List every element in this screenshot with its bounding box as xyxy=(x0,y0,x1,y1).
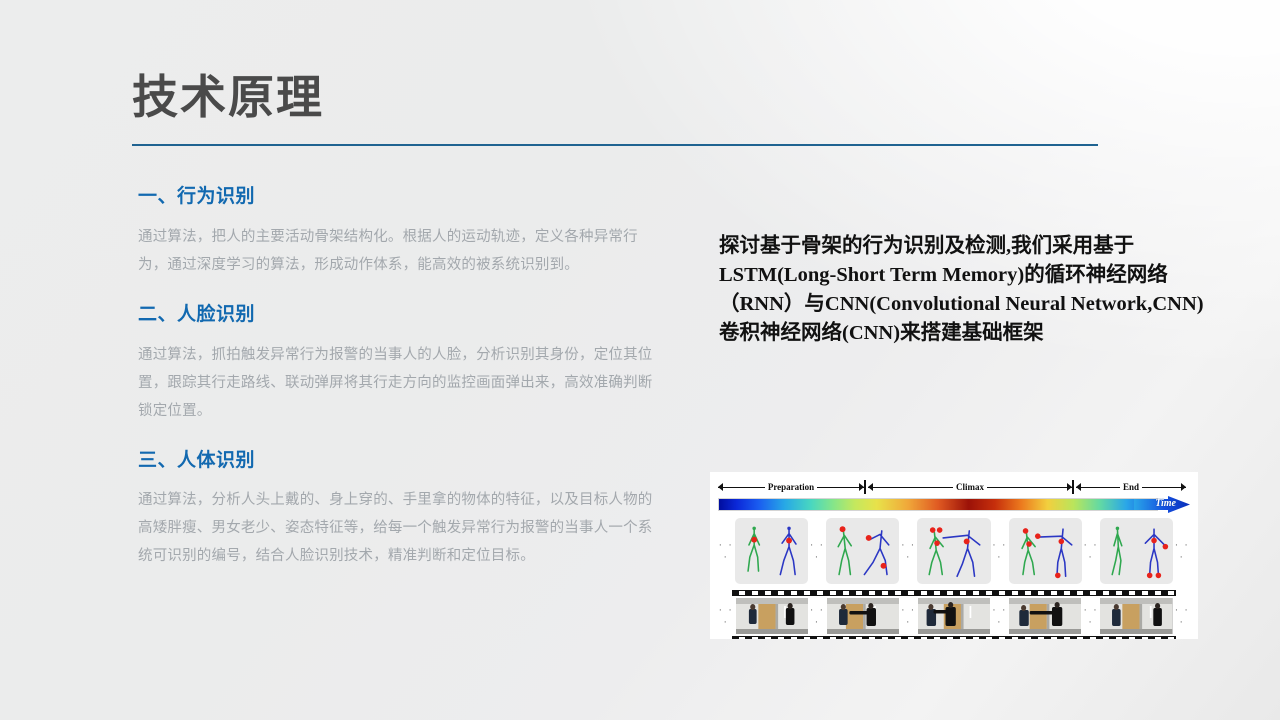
arrow-right-icon xyxy=(1181,483,1186,491)
section-body-2: 通过算法，抓拍触发异常行为报警的当事人的人脸，分析识别其身份，定位其位置，跟踪其… xyxy=(138,341,654,425)
page-title: 技术原理 xyxy=(132,72,324,123)
skeleton-pose-4 xyxy=(1009,518,1082,584)
film-ellipsis-left: · · · xyxy=(718,604,734,628)
film-perforations-top xyxy=(732,590,1176,596)
skeleton-pose-3 xyxy=(917,518,990,584)
video-frame-1 xyxy=(736,598,808,634)
skeleton-frame-1 xyxy=(735,518,808,584)
arrow-left-icon xyxy=(718,483,723,491)
skeleton-frame-2 xyxy=(826,518,899,584)
section-face-recognition: 二、人脸识别 通过算法，抓拍触发异常行为报警的当事人的人脸，分析识别其身份，定位… xyxy=(138,304,654,425)
video-frame-4 xyxy=(1009,598,1081,634)
phase-segment-climax: Climax xyxy=(868,479,1072,495)
skeleton-pose-1 xyxy=(735,518,808,584)
figure-inner: Preparation Climax End xyxy=(718,479,1190,631)
film-ellipsis-4: · · · xyxy=(1083,604,1099,628)
title-block: 技术原理 xyxy=(132,72,324,123)
section-behavior-recognition: 一、行为识别 通过算法，把人的主要活动骨架结构化。根据人的运动轨迹，定义各种异常… xyxy=(138,186,654,279)
slide-canvas: 技术原理 一、行为识别 通过算法，把人的主要活动骨架结构化。根据人的运动轨迹，定… xyxy=(0,0,1280,720)
time-axis-label: Time xyxy=(1155,498,1176,509)
ellipsis-mid-1: · · · xyxy=(809,539,825,563)
film-ellipsis-3: · · · xyxy=(992,604,1008,628)
skeleton-frame-4 xyxy=(1009,518,1082,584)
ellipsis-mid-3: · · · xyxy=(992,539,1008,563)
skeleton-pose-2 xyxy=(826,518,899,584)
phase-label-preparation: Preparation xyxy=(765,482,817,492)
phase-label-climax: Climax xyxy=(953,482,987,492)
section-heading-3: 三、人体识别 xyxy=(138,450,654,473)
right-paragraph: 探讨基于骨架的行为识别及检测,我们采用基于LSTM(Long-Short Ter… xyxy=(719,232,1207,348)
skeleton-sequence-row: · · · · · · xyxy=(718,517,1190,585)
surveillance-still-2 xyxy=(827,598,899,634)
left-content-column: 一、行为识别 通过算法，把人的主要活动骨架结构化。根据人的运动轨迹，定义各种异常… xyxy=(138,186,654,570)
surveillance-still-4 xyxy=(1009,598,1081,634)
ellipsis-right: · · · xyxy=(1174,539,1190,563)
surveillance-still-3 xyxy=(918,598,990,634)
phase-tick-2 xyxy=(1072,480,1074,494)
phase-segment-preparation: Preparation xyxy=(718,479,864,495)
ellipsis-mid-4: · · · xyxy=(1083,539,1099,563)
arrow-left-icon xyxy=(868,483,873,491)
film-ellipsis-right: · · · xyxy=(1174,604,1190,628)
film-ellipsis-2: · · · xyxy=(900,604,916,628)
filmstrip-row: · · · · · · xyxy=(718,590,1190,639)
phase-tick-1 xyxy=(864,480,866,494)
surveillance-still-1 xyxy=(736,598,808,634)
phase-label-end: End xyxy=(1120,482,1142,492)
time-colorbar-wrap: Time xyxy=(718,496,1190,513)
video-frame-5 xyxy=(1100,598,1172,634)
section-body-recognition: 三、人体识别 通过算法，分析人头上戴的、身上穿的、手里拿的物体的特征，以及目标人… xyxy=(138,450,654,571)
skeleton-frame-3 xyxy=(917,518,990,584)
ellipsis-mid-2: · · · xyxy=(900,539,916,563)
skeleton-pose-5 xyxy=(1100,518,1173,584)
time-colorbar xyxy=(718,498,1158,511)
film-perforations-bottom xyxy=(732,636,1176,639)
skeleton-frame-5 xyxy=(1100,518,1173,584)
ellipsis-left: · · · xyxy=(718,539,734,563)
film-ellipsis-1: · · · xyxy=(809,604,825,628)
section-heading-2: 二、人脸识别 xyxy=(138,304,654,327)
surveillance-still-5 xyxy=(1100,598,1172,634)
section-heading-1: 一、行为识别 xyxy=(138,186,654,209)
section-body-3: 通过算法，分析人头上戴的、身上穿的、手里拿的物体的特征，以及目标人物的高矮胖瘦、… xyxy=(138,486,654,570)
video-frame-3 xyxy=(918,598,990,634)
title-underline-rule xyxy=(132,144,1098,146)
figure-panel-action-timeline: Preparation Climax End xyxy=(710,472,1198,639)
phase-segment-end: End xyxy=(1076,479,1186,495)
video-frame-2 xyxy=(827,598,899,634)
phase-label-row: Preparation Climax End xyxy=(718,479,1190,495)
section-body-1: 通过算法，把人的主要活动骨架结构化。根据人的运动轨迹，定义各种异常行为，通过深度… xyxy=(138,223,654,279)
arrow-left-icon xyxy=(1076,483,1081,491)
